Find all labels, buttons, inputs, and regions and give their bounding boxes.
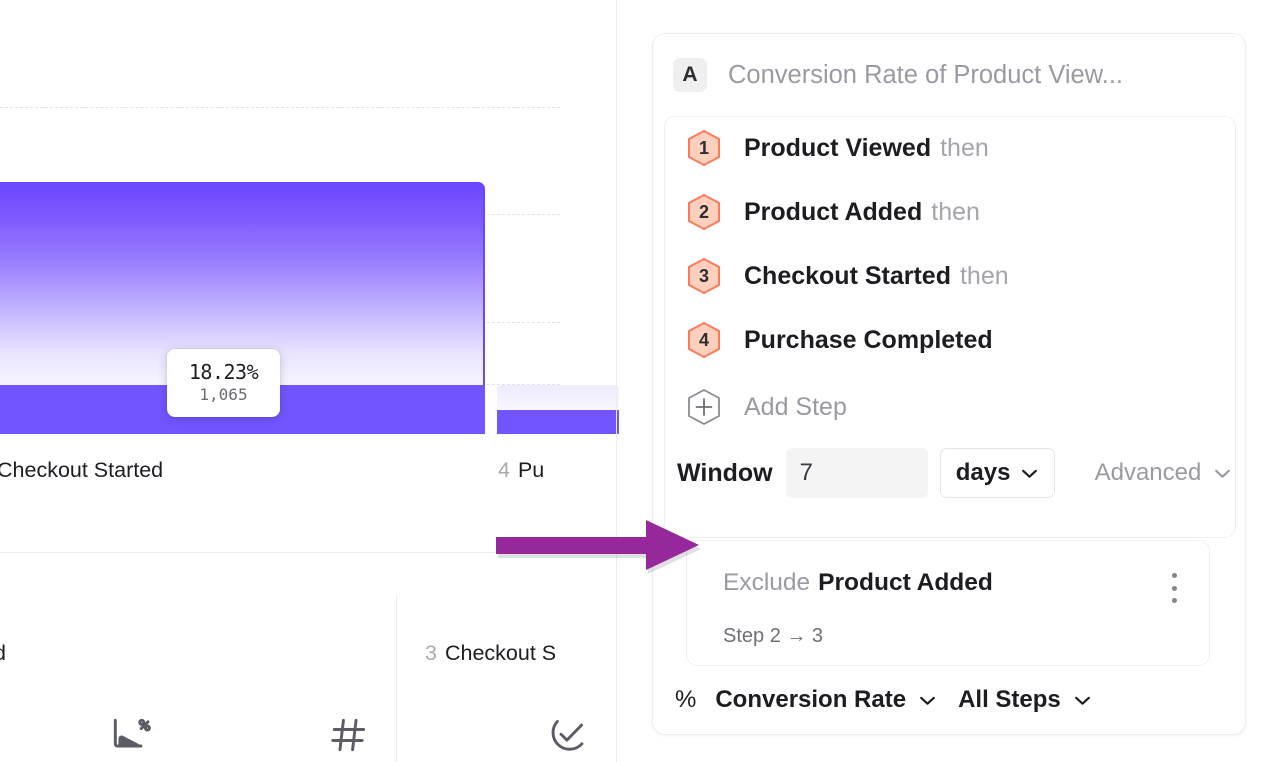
step-event-label: Product Added (744, 198, 922, 227)
funnel-config-panel: A Conversion Rate of Product View... 1 P… (652, 33, 1246, 735)
gridline (0, 107, 560, 108)
step-number-hexagon-icon: 2 (687, 193, 721, 231)
step-number-hexagon-icon: 3 (687, 257, 721, 295)
plus-hexagon-icon (687, 388, 721, 426)
conversion-window-row: Window days Advanced (677, 447, 1231, 499)
dot (1172, 586, 1177, 591)
window-unit-select[interactable]: days (940, 448, 1055, 498)
dot (1172, 573, 1177, 578)
x-axis-labels: Checkout Started 4Pu (0, 458, 618, 496)
step-event-label: Checkout Started (744, 262, 951, 291)
funnel-title-input[interactable]: Conversion Rate of Product View... (728, 61, 1123, 90)
x-axis-label-4-number: 4 (498, 458, 510, 482)
funnel-step-4[interactable]: 4 Purchase Completed (687, 319, 1002, 361)
funnel-bar-solid (497, 410, 619, 434)
metric-type-select[interactable]: Conversion Rate (715, 686, 936, 714)
steps-scope-label: All Steps (958, 686, 1061, 714)
add-step-label: Add Step (744, 393, 847, 422)
chevron-down-icon (1214, 468, 1231, 479)
x-axis-label-3-text: Checkout Started (0, 458, 163, 482)
exclusion-event-name: Product Added (818, 569, 993, 596)
funnel-step-3[interactable]: 3 Checkout Started then (687, 255, 1009, 297)
exclusion-step-card[interactable]: ExcludeProduct Added Step 2 → 3 (686, 540, 1210, 666)
tooltip-percent: 18.23% (189, 361, 258, 384)
funnel-lower-summary: d 3Checkout S (0, 553, 618, 762)
funnel-chart-pane: 18.23% 1,065 Checkout Started 4Pu d 3Che… (0, 0, 618, 762)
exclusion-more-options-icon[interactable] (1163, 573, 1185, 603)
exclusion-step-range: Step 2 → 3 (723, 625, 823, 648)
lower-left-label: d (0, 641, 6, 666)
steps-scope-select[interactable]: All Steps (958, 686, 1091, 714)
panel-header: A Conversion Rate of Product View... (653, 34, 1245, 116)
step-number-hexagon-icon: 4 (687, 321, 721, 359)
exclusion-prefix: Exclude (723, 569, 810, 596)
funnel-step-2[interactable]: 2 Product Added then (687, 191, 980, 233)
step-connector: then (931, 198, 980, 227)
step-connector: then (940, 134, 989, 163)
percent-icon: % (675, 686, 696, 714)
chevron-down-icon (1021, 468, 1038, 479)
lower-right-label-number: 3 (425, 641, 437, 665)
step-connector: then (960, 262, 1009, 291)
series-badge-a[interactable]: A (673, 58, 707, 92)
chart-tooltip: 18.23% 1,065 (167, 349, 280, 417)
funnel-bar-gradient (497, 385, 619, 410)
step-event-label: Product Viewed (744, 134, 931, 163)
window-label: Window (677, 459, 773, 488)
step-number: 3 (699, 266, 709, 287)
metric-type-label: Conversion Rate (715, 686, 906, 714)
tooltip-count: 1,065 (199, 385, 247, 406)
chevron-down-icon (1074, 695, 1091, 706)
step-number: 2 (699, 202, 709, 223)
dot (1172, 598, 1177, 603)
funnel-bar-purchase-completed[interactable] (497, 385, 619, 434)
step-event-label: Purchase Completed (744, 326, 993, 355)
step-number-hexagon-icon: 1 (687, 129, 721, 167)
metric-icon-row (0, 713, 618, 762)
step-number: 1 (699, 138, 709, 159)
funnel-step-1[interactable]: 1 Product Viewed then (687, 127, 989, 169)
x-axis-label-4: 4Pu (498, 458, 544, 483)
lower-right-label: 3Checkout S (425, 641, 556, 666)
window-value-input[interactable] (786, 448, 928, 498)
chevron-down-icon (919, 695, 936, 706)
funnel-steps-card: 1 Product Viewed then 2 Product Added th… (664, 116, 1236, 538)
add-step-button[interactable]: Add Step (687, 386, 847, 428)
advanced-label: Advanced (1095, 459, 1202, 487)
exclusion-title: ExcludeProduct Added (723, 569, 993, 597)
funnel-percent-icon[interactable] (108, 713, 152, 757)
app-root: 18.23% 1,065 Checkout Started 4Pu d 3Che… (0, 0, 1264, 762)
advanced-options-toggle[interactable]: Advanced (1095, 459, 1232, 487)
x-axis-label-3: Checkout Started (0, 458, 163, 483)
panel-footer: % Conversion Rate All Steps (675, 680, 1091, 720)
check-circle-icon[interactable] (546, 713, 590, 757)
x-axis-label-4-text: Pu (518, 458, 544, 482)
window-unit-label: days (956, 459, 1011, 487)
pane-divider (616, 0, 617, 762)
step-number: 4 (699, 330, 709, 351)
lower-right-label-text: Checkout S (445, 641, 556, 665)
hash-icon[interactable] (326, 713, 370, 757)
